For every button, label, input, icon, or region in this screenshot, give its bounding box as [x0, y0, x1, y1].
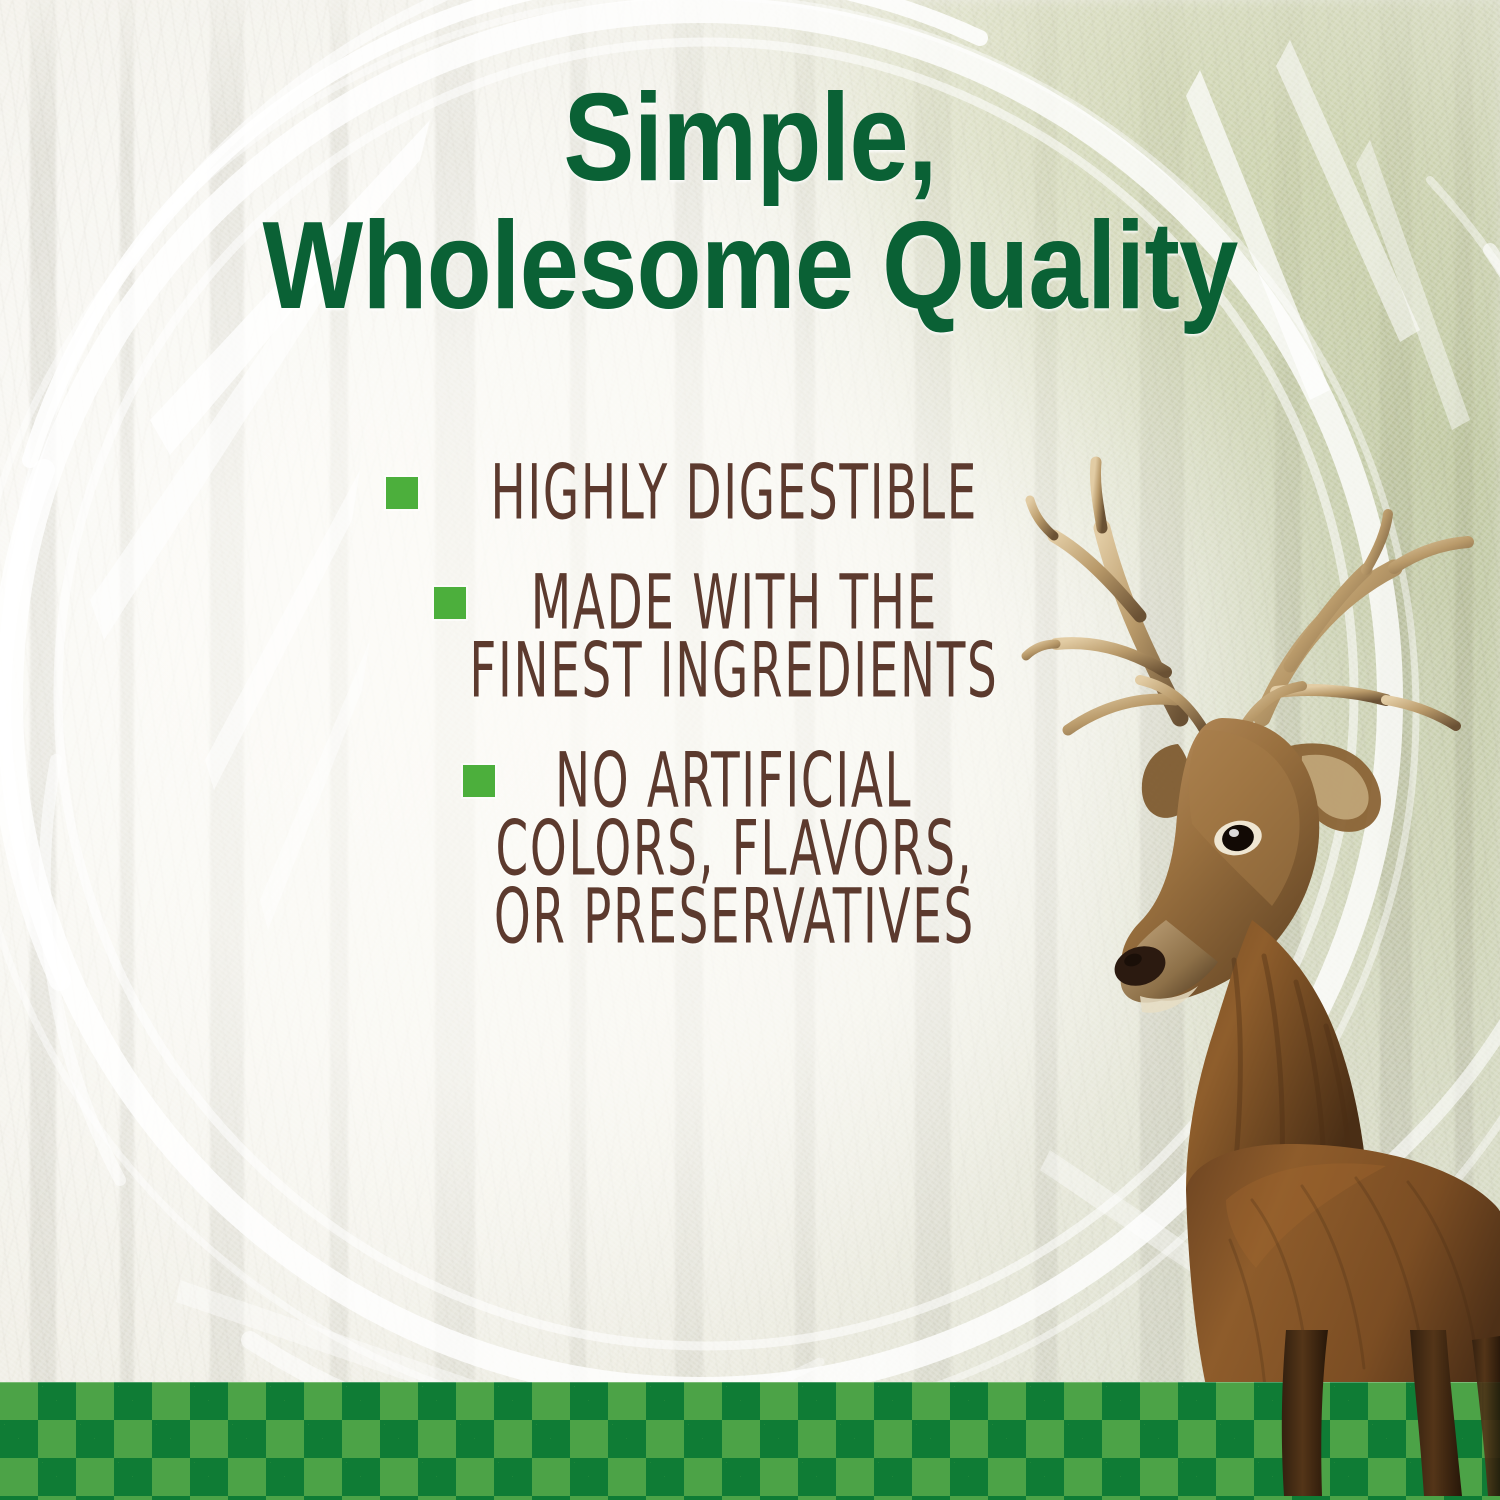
poster-canvas: Simple, Wholesome Quality HIGHLY DIGESTI…: [0, 0, 1500, 1500]
headline-line-1: Simple,: [105, 78, 1395, 200]
bullet-square-icon: [463, 765, 495, 797]
bullet-text: OR PRESERVATIVES: [493, 879, 974, 955]
red-deer-stag-image: [990, 400, 1500, 1500]
bullet-text: FINEST INGREDIENTS: [469, 633, 998, 709]
headline-line-2: Wholesome Quality: [105, 206, 1395, 328]
list-item: HIGHLY DIGESTIBLE: [355, 462, 1055, 524]
bullet-square-icon: [386, 477, 418, 509]
feature-bullet-list: HIGHLY DIGESTIBLE MADE WITH THE FINEST I…: [355, 462, 1055, 948]
list-item: MADE WITH THE FINEST INGREDIENTS: [355, 572, 1055, 702]
list-item: NO ARTIFICIAL COLORS, FLAVORS, OR PRESER…: [355, 750, 1055, 948]
bullet-square-icon: [434, 587, 466, 619]
checkerboard-footer-band: [0, 1382, 1500, 1500]
headline: Simple, Wholesome Quality: [0, 78, 1500, 327]
bullet-text: HIGHLY DIGESTIBLE: [490, 455, 978, 531]
